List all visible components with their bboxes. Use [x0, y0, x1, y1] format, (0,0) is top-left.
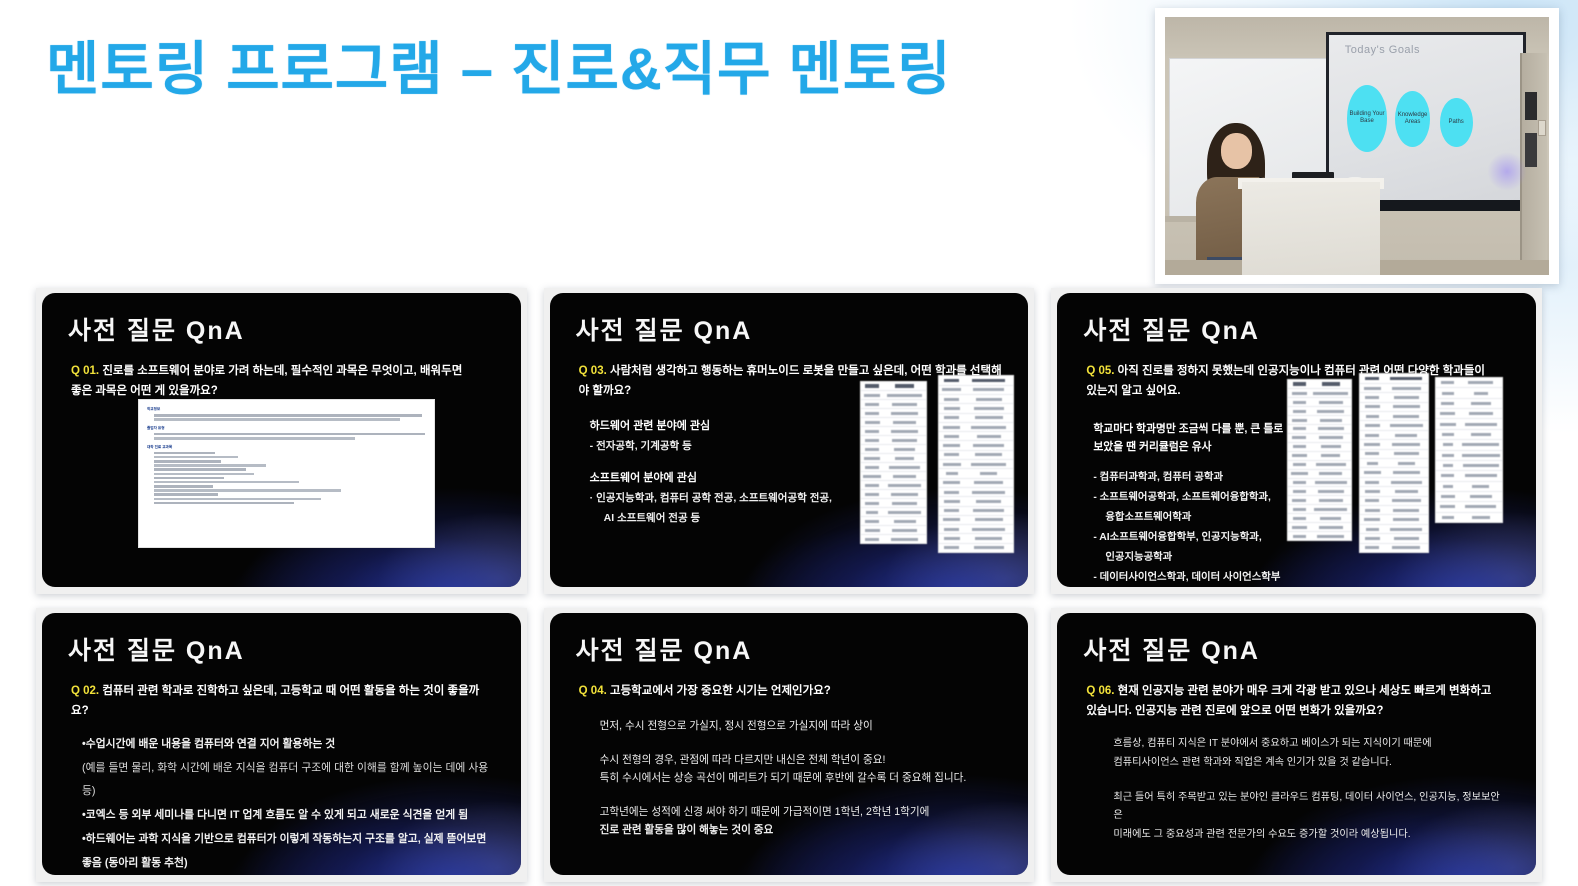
answer-para-3-q04: 특히 수시에서는 상승 곡선이 메리트가 되기 때문에 후반에 갈수록 더 중요…	[600, 769, 1005, 787]
card-title-q04: 사전 질문 QnA	[576, 631, 1029, 667]
answer-group1-item-1-q03: - 전자공학, 기계공학 등	[590, 438, 890, 453]
table-screenshot-q03-b	[938, 375, 1014, 553]
question-line2-q01: 좋은 과목은 어떤 게 있을까요?	[71, 385, 218, 397]
answer-para-1-q04: 먼저, 수시 전형으로 가실지, 정시 전형으로 가실지에 따라 상이	[600, 717, 1005, 735]
answer-para-4-q04: 고학년에는 성적에 신경 써야 하기 때문에 가급적이면 1학년, 2학년 1학…	[600, 803, 1005, 821]
photo-screen-circle-3: Paths	[1440, 98, 1473, 147]
answer-body-q06: 흐름상, 컴퓨티 지식은 IT 분야에서 중요하고 베이스가 되는 지식이기 때…	[1113, 735, 1508, 845]
question-line1-q04: 고등학교에서 가장 중요한 시기는 언제인가요?	[610, 685, 831, 697]
doc-heading-3: 대학 진로 교과목	[147, 445, 426, 450]
table-screenshot-q05-b	[1359, 373, 1429, 553]
qna-card-q06[interactable]: 사전 질문 QnA Q 06. 현재 인공지능 관련 분야가 매우 크게 각광 …	[1051, 608, 1542, 883]
photo-presenter-face	[1221, 133, 1252, 169]
qna-card-q01[interactable]: 사전 질문 QnA Q 01. 진로를 소프트웨어 분야로 가려 하는데, 필수…	[36, 288, 527, 594]
table-screenshot-q03-a	[860, 381, 927, 544]
question-number-q03: Q 03.	[579, 365, 607, 377]
question-line2-q06: 있습니다. 인공지능 관련 진로에 앞으로 어떤 변화가 있을까요?	[1086, 705, 1383, 717]
answer-para-2-q06: 컴퓨티사이언스 관련 학과와 직업은 계속 인기가 있을 것 같습니다.	[1113, 754, 1508, 773]
card-title-q01: 사전 질문 QnA	[68, 311, 521, 347]
qna-card-q02[interactable]: 사전 질문 QnA Q 02. 컴퓨터 관련 학과로 진학하고 싶은데, 고등학…	[36, 608, 527, 883]
card-title-q05: 사전 질문 QnA	[1083, 311, 1536, 347]
question-number-q05: Q 05.	[1086, 365, 1114, 377]
answer-bullet-3-q02: •코엑스 등 외부 세미나를 다니면 IT 업계 흐름도 알 수 있게 되고 새…	[82, 804, 497, 828]
photo-light-switch	[1538, 120, 1546, 135]
qna-card-q03-panel: 사전 질문 QnA Q 03. 사람처럼 생각하고 행동하는 휴머노이드 로봇을…	[550, 293, 1029, 587]
question-number-q04: Q 04.	[579, 685, 607, 697]
card-title-q06: 사전 질문 QnA	[1083, 631, 1536, 667]
qna-card-q03[interactable]: 사전 질문 QnA Q 03. 사람처럼 생각하고 행동하는 휴머노이드 로봇을…	[544, 288, 1035, 594]
answer-body-q04: 먼저, 수시 전형으로 가실지, 정시 전형으로 가실지에 따라 상이 수시 전…	[600, 717, 1005, 839]
answer-bullet-4-q02: •하드웨어는 과학 지식을 기반으로 컴퓨터가 이렇게 작동하는지 구조를 알고…	[82, 828, 497, 876]
answer-para-3-q06: 최근 들어 특히 주목받고 있는 분야인 클라우드 컴퓨팅, 데이터 사이언스,…	[1113, 789, 1508, 827]
question-number-q01: Q 01.	[71, 365, 99, 377]
page-title: 멘토링 프로그램 – 진로&직무 멘토링	[46, 22, 952, 106]
answer-body-q03: 하드웨어 관련 분야에 관심 - 전자공학, 기계공학 등 소프트웨어 분야에 …	[590, 417, 890, 525]
answer-group2-item-2-q03: AI 소프트웨어 전공 등	[604, 510, 890, 525]
qna-card-q04[interactable]: 사전 질문 QnA Q 04. 고등학교에서 가장 중요한 시기는 언제인가요?…	[544, 608, 1035, 883]
photo-wall-poster-2	[1525, 133, 1537, 167]
answer-group2-head-q03: 소프트웨어 분야에 관심	[590, 469, 890, 485]
question-line1-q06: 현재 인공지능 관련 분야가 매우 크게 각광 받고 있으나 세상도 빠르게 변…	[1118, 685, 1492, 697]
qna-card-q02-panel: 사전 질문 QnA Q 02. 컴퓨터 관련 학과로 진학하고 싶은데, 고등학…	[42, 613, 521, 876]
answer-group1-head-q03: 하드웨어 관련 분야에 관심	[590, 417, 890, 433]
answer-para-2-q04: 수시 전형의 경우, 관점에 따라 다르지만 내신은 전체 학년이 중요!	[600, 751, 1005, 769]
answer-para-1-q06: 흐름상, 컴퓨티 지식은 IT 분야에서 중요하고 베이스가 되는 지식이기 때…	[1113, 735, 1508, 754]
photo-screen-circle-1: Building Your Base	[1347, 85, 1388, 152]
answer-item-6-q05: - 데이터사이언스학과, 데이터 사이언스학부	[1093, 570, 1323, 586]
photo-wall-poster-1	[1525, 92, 1537, 120]
photo-content: Today's Goals Building Your Base Knowled…	[1165, 17, 1549, 275]
qna-card-q05-panel: 사전 질문 QnA Q 05. 아직 진로를 정하지 못했는데 인공지능이나 컴…	[1057, 293, 1536, 587]
photo-podium	[1242, 182, 1380, 275]
answer-item-5-q05: 인공지능공학과	[1105, 550, 1323, 566]
answer-para-4-q06: 미래에도 그 중요성과 관련 전문가의 수요도 증가할 것이라 예상됩니다.	[1113, 826, 1508, 845]
qna-card-q05[interactable]: 사전 질문 QnA Q 05. 아직 진로를 정하지 못했는데 인공지능이나 컴…	[1051, 288, 1542, 594]
answer-bullet-2-q02: (예를 들면 물리, 화학 시간에 배운 지식을 컴퓨더 구조에 대한 이해를 …	[82, 757, 497, 805]
doc-heading-1: 학교정보	[147, 407, 426, 412]
question-text-q06: Q 06. 현재 인공지능 관련 분야가 매우 크게 각광 받고 있으나 세상도…	[1086, 681, 1512, 721]
question-line1-q02: 컴퓨터 관련 학과로 진학하고 싶은데, 고등학교 때 어떤 활동을 하는 것이…	[71, 685, 479, 717]
question-text-q01: Q 01. 진로를 소프트웨어 분야로 가려 하는데, 필수적인 과목은 무엇이…	[71, 361, 497, 401]
question-text-q04: Q 04. 고등학교에서 가장 중요한 시기는 언제인가요?	[579, 681, 1005, 701]
answer-group2-item-1-q03: · 인공지능학과, 컴퓨터 공학 전공, 소프트웨어공학 전공,	[590, 490, 890, 505]
table-screenshot-q05-c	[1435, 377, 1503, 523]
question-line2-q05: 있는지 알고 싶어요.	[1086, 385, 1180, 397]
question-line1-q01: 진로를 소프트웨어 분야로 가려 하는데, 필수적인 과목은 무엇이고, 배워두…	[102, 365, 462, 377]
photo-screen-title: Today's Goals	[1345, 44, 1420, 56]
card-title-q02: 사전 질문 QnA	[68, 631, 521, 667]
card-title-q03: 사전 질문 QnA	[576, 311, 1029, 347]
question-text-q02: Q 02. 컴퓨터 관련 학과로 진학하고 싶은데, 고등학교 때 어떤 활동을…	[71, 681, 497, 721]
answer-bullets-q02: •수업시간에 배운 내용을 컴퓨터와 연결 지어 활용하는 것 (예를 들면 물…	[82, 733, 497, 876]
answer-bullet-1-q02: •수업시간에 배운 내용을 컴퓨터와 연결 지어 활용하는 것	[82, 733, 497, 757]
doc-heading-2: 졸업자 유형	[147, 426, 426, 431]
question-number-q06: Q 06.	[1086, 685, 1114, 697]
photo-projector-glow	[1488, 151, 1526, 192]
table-screenshot-q05-a	[1287, 379, 1352, 541]
answer-para-5-q04: 진로 관련 활동을 많이 해놓는 것이 중요	[600, 821, 1005, 839]
question-line1-q05: 아직 진로를 정하지 못했는데 인공지능이나 컴퓨터 관련 어떤 다양한 학과들…	[1118, 365, 1485, 377]
mentoring-session-photo: Today's Goals Building Your Base Knowled…	[1155, 8, 1559, 284]
document-screenshot-q01: 학교정보 졸업자 유형 대학 진로 교과목	[138, 399, 435, 548]
qna-card-q04-panel: 사전 질문 QnA Q 04. 고등학교에서 가장 중요한 시기는 언제인가요?…	[550, 613, 1029, 876]
photo-screen-circle-2: Knowledge Areas	[1395, 91, 1430, 147]
qna-card-q06-panel: 사전 질문 QnA Q 06. 현재 인공지능 관련 분야가 매우 크게 각광 …	[1057, 613, 1536, 876]
qna-card-q01-panel: 사전 질문 QnA Q 01. 진로를 소프트웨어 분야로 가려 하는데, 필수…	[42, 293, 521, 587]
question-number-q02: Q 02.	[71, 685, 99, 697]
qna-card-grid: 사전 질문 QnA Q 01. 진로를 소프트웨어 분야로 가려 하는데, 필수…	[36, 288, 1542, 866]
